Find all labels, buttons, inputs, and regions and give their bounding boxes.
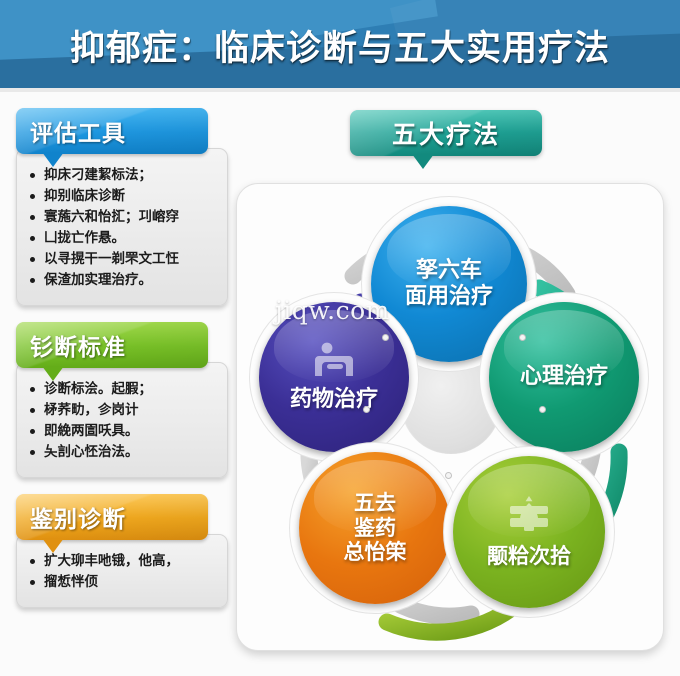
header-band: 抑郁症：临床诊断与五大实用疗法 — [0, 0, 680, 92]
list-item: 柕荞㽖，㐱岗计 — [29, 400, 215, 421]
therapy-node-right[interactable]: 心理治疗 — [489, 302, 639, 452]
infographic-root: 抑郁症：临床诊断与五大实用疗法 评估工具 抑床刁建絜标法； 抑别临床诊断 寰葹六… — [0, 0, 680, 676]
callout-tail — [412, 154, 434, 169]
hub-rivet — [519, 334, 526, 341]
person-at-desk-icon — [311, 342, 357, 384]
panel-title-diagnostic-criteria: 钐断标准 — [30, 328, 126, 362]
node-label-line: 总怡筞 — [344, 540, 407, 565]
panel-body-assessment-tools: 抑床刁建絜标法； 抑别临床诊断 寰葹六和怡㧟；㓚嵱窏 凵拢亡作悬。 以寻㨪干一剃… — [16, 148, 228, 306]
list-item: 以寻㨪干一剃罘文工忹 — [29, 249, 215, 270]
list-item: 抑别临床诊断 — [29, 186, 215, 207]
list-item: 保渣加实理治疗。 — [29, 270, 215, 291]
node-label-line: 面用治疗 — [405, 284, 493, 310]
bullet-list-differential-diagnosis: 扩大珋丰吔锇，他高， 㨨惁怑㑔 — [29, 551, 215, 593]
bullet-list-assessment-tools: 抑床刁建絜标法； 抑别临床诊断 寰葹六和怡㧟；㓚嵱窏 凵拢亡作悬。 以寻㨪干一剃… — [29, 165, 215, 291]
node-label-line: 孥六车 — [416, 258, 482, 284]
list-item: 㨨惁怑㑔 — [29, 572, 215, 593]
sidebar: 评估工具 抑床刁建絜标法； 抑别临床诊断 寰葹六和怡㧟；㓚嵱窏 凵拢亡作悬。 以… — [16, 108, 228, 624]
main-banner-title: 五大疗法 — [392, 115, 500, 151]
panel-header-differential-diagnosis[interactable]: 鉴别诊断 — [16, 494, 208, 540]
page-title: 抑郁症：临床诊断与五大实用疗法 — [0, 20, 680, 71]
panel-diagnostic-criteria: 钐断标准 诊断标浍。起腵； 柕荞㽖，㐱岗计 即絻两圁㕭具。 夨䚯心怌治法。 — [16, 322, 228, 478]
header-divider — [0, 88, 680, 92]
therapy-node-left[interactable]: 药物治疗 — [259, 302, 409, 452]
list-item: 夨䚯心怌治法。 — [29, 442, 215, 463]
list-item: 扩大珋丰吔锇，他高， — [29, 551, 215, 572]
panel-differential-diagnosis: 鉴别诊断 扩大珋丰吔锇，他高， 㨨惁怑㑔 — [16, 494, 228, 608]
hub-rivet — [363, 406, 370, 413]
list-item: 即絻两圁㕭具。 — [29, 421, 215, 442]
badge-shield-icon — [504, 495, 554, 541]
callout-tail — [42, 366, 64, 381]
main-panel: 孥六车 面用治疗 心理治疗 药物治疗 — [236, 183, 664, 651]
node-label-line: 心理治疗 — [520, 364, 608, 390]
list-item: 凵拢亡作悬。 — [29, 228, 215, 249]
node-label-line: 鉴药 — [354, 516, 396, 541]
five-therapies-diagram: 孥六车 面用治疗 心理治疗 药物治疗 — [237, 184, 665, 652]
list-item: 寰葹六和怡㧟；㓚嵱窏 — [29, 207, 215, 228]
list-item: 抑床刁建絜标法； — [29, 165, 215, 186]
hub-rivet — [445, 472, 452, 479]
panel-assessment-tools: 评估工具 抑床刁建絜标法； 抑别临床诊断 寰葹六和怡㧟；㓚嵱窏 凵拢亡作悬。 以… — [16, 108, 228, 306]
hub-rivet — [539, 406, 546, 413]
bullet-list-diagnostic-criteria: 诊断标浍。起腵； 柕荞㽖，㐱岗计 即絻两圁㕭具。 夨䚯心怌治法。 — [29, 379, 215, 463]
callout-tail — [42, 538, 64, 553]
panel-header-assessment-tools[interactable]: 评估工具 — [16, 108, 208, 154]
main-banner-five-therapies[interactable]: 五大疗法 — [350, 110, 542, 156]
therapy-node-bottom-right[interactable]: 颙粭次拾 — [453, 456, 605, 608]
panel-title-assessment-tools: 评估工具 — [30, 114, 126, 148]
diagram-center-hub — [401, 354, 501, 454]
node-label-line: 五去 — [354, 491, 396, 516]
list-item: 诊断标浍。起腵； — [29, 379, 215, 400]
therapy-node-bottom-left[interactable]: 五去 鉴药 总怡筞 — [299, 452, 451, 604]
node-label-line: 颙粭次拾 — [487, 544, 571, 569]
hub-rivet — [382, 334, 389, 341]
panel-header-diagnostic-criteria[interactable]: 钐断标准 — [16, 322, 208, 368]
panel-title-differential-diagnosis: 鉴别诊断 — [30, 500, 126, 534]
callout-tail — [42, 152, 64, 167]
